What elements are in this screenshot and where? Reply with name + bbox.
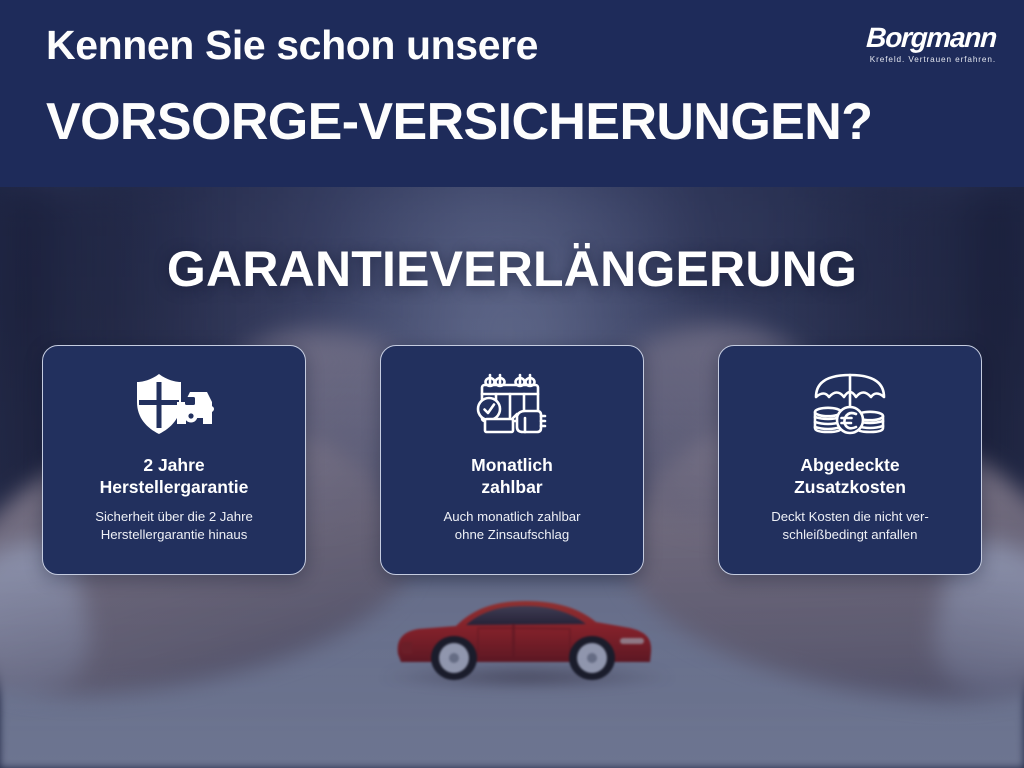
umbrella-coins-euro-icon (807, 368, 893, 442)
feature-card-title: 2 Jahre Herstellergarantie (100, 454, 249, 499)
feature-card-extra-costs[interactable]: Abgedeckte Zusatzkosten Deckt Kosten die… (718, 345, 982, 575)
feature-card-title: Abgedeckte Zusatzkosten (794, 454, 906, 499)
feature-card-title: Monatlich zahlbar (471, 454, 553, 499)
advertisement-banner: Kennen Sie schon unsere VORSORGE-VERSICH… (0, 0, 1024, 768)
feature-card-monthly-payment[interactable]: Monatlich zahlbar Auch monatlich zahlbar… (380, 345, 644, 575)
header-question-line: Kennen Sie schon unsere (46, 22, 538, 69)
feature-card-subtitle: Auch monatlich zahlbar ohne Zinsaufschla… (443, 508, 580, 544)
shield-car-icon (131, 368, 217, 442)
header-headline: VORSORGE-VERSICHERUNGEN? (46, 92, 872, 152)
header-band: Kennen Sie schon unsere VORSORGE-VERSICH… (0, 0, 1024, 187)
feature-card-subtitle: Deckt Kosten die nicht ver- schleißbedin… (771, 508, 929, 544)
page-title: GARANTIEVERLÄNGERUNG (0, 240, 1024, 298)
feature-card-list: 2 Jahre Herstellergarantie Sicherheit üb… (42, 345, 982, 575)
feature-card-warranty[interactable]: 2 Jahre Herstellergarantie Sicherheit üb… (42, 345, 306, 575)
logo-wordmark: Borgmann (815, 24, 996, 52)
borgmann-logo[interactable]: Borgmann Krefeld. Vertrauen erfahren. (816, 24, 996, 64)
feature-card-subtitle: Sicherheit über die 2 Jahre Herstellerga… (95, 508, 253, 544)
logo-tagline: Krefeld. Vertrauen erfahren. (816, 55, 996, 64)
calendar-payment-icon (469, 368, 555, 442)
